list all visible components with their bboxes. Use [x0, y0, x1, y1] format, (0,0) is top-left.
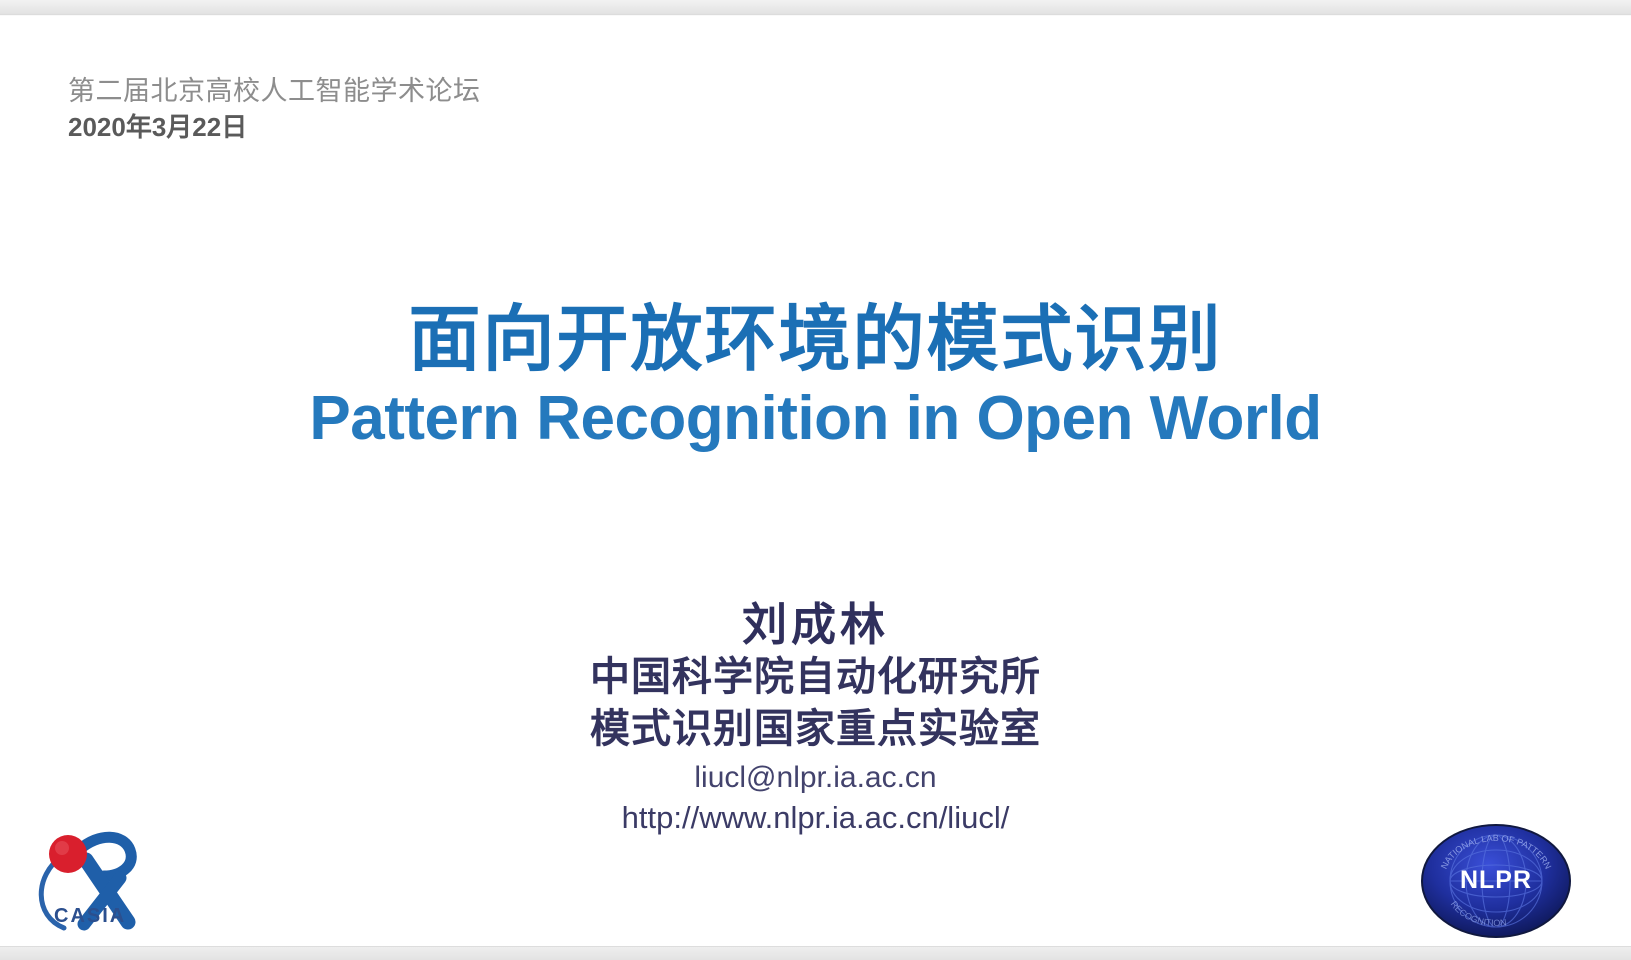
casia-logo: CASIA: [24, 798, 164, 938]
viewer-top-bar: [0, 0, 1631, 15]
title-block: 面向开放环境的模式识别 Pattern Recognition in Open …: [0, 302, 1631, 455]
author-affiliation-institute: 中国科学院自动化研究所: [0, 651, 1631, 703]
author-website: http://www.nlpr.ia.ac.cn/liucl/: [0, 798, 1631, 838]
title-english: Pattern Recognition in Open World: [0, 382, 1631, 455]
nlpr-logo: NATIONAL LAB OF PATTERN RECOGNITION NLPR: [1396, 806, 1596, 956]
author-block: 刘成林 中国科学院自动化研究所 模式识别国家重点实验室 liucl@nlpr.i…: [0, 599, 1631, 838]
author-name: 刘成林: [0, 599, 1631, 651]
casia-logo-text: CASIA: [54, 905, 126, 927]
nlpr-logo-text: NLPR: [1460, 866, 1532, 894]
author-email: liucl@nlpr.ia.ac.cn: [0, 758, 1631, 798]
presentation-viewer: 第二届北京高校人工智能学术论坛 2020年3月22日 面向开放环境的模式识别 P…: [0, 0, 1631, 960]
slide-canvas: 第二届北京高校人工智能学术论坛 2020年3月22日 面向开放环境的模式识别 P…: [0, 16, 1631, 946]
event-name: 第二届北京高校人工智能学术论坛: [68, 74, 481, 109]
slide-header: 第二届北京高校人工智能学术论坛 2020年3月22日: [68, 74, 481, 144]
title-chinese: 面向开放环境的模式识别: [0, 302, 1631, 378]
author-affiliation-lab: 模式识别国家重点实验室: [0, 703, 1631, 755]
event-date: 2020年3月22日: [68, 111, 481, 145]
viewer-bottom-bar: [0, 946, 1631, 960]
